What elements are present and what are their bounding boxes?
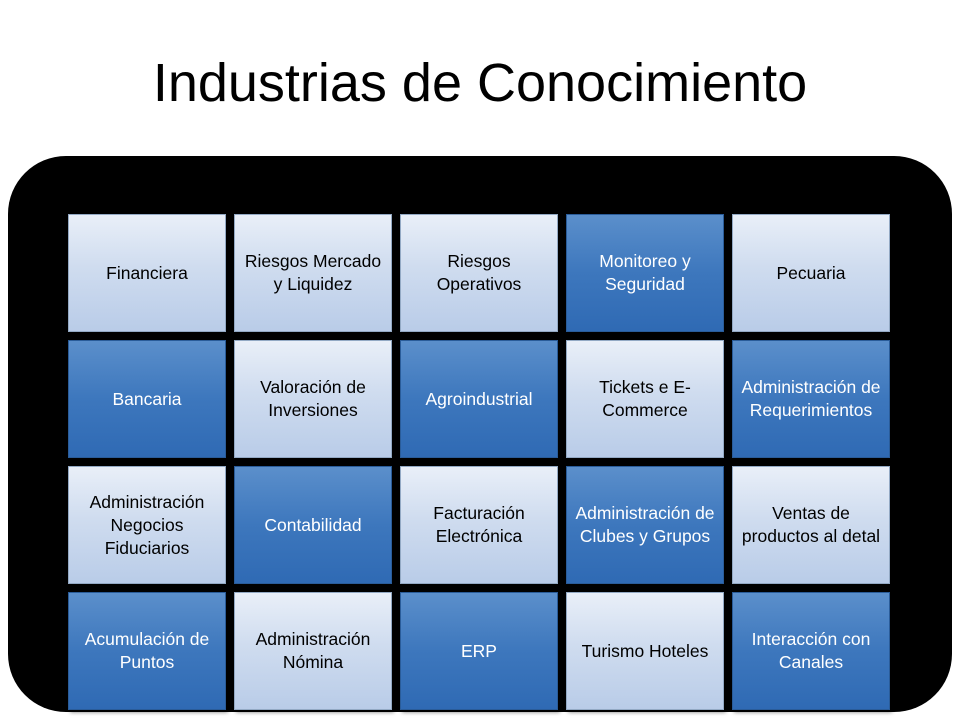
industry-cell[interactable]: Tickets e E-Commerce (566, 340, 724, 458)
industry-cell-label: Administración Negocios Fiduciarios (75, 491, 219, 560)
industry-cell[interactable]: Facturación Electrónica (400, 466, 558, 584)
industry-cell-label: ERP (407, 640, 551, 663)
industry-cell[interactable]: Riesgos Operativos (400, 214, 558, 332)
industry-cell[interactable]: Agroindustrial (400, 340, 558, 458)
industry-cell[interactable]: Acumulación de Puntos (68, 592, 226, 710)
industry-cell[interactable]: Bancaria (68, 340, 226, 458)
industry-cell-label: Valoración de Inversiones (241, 376, 385, 422)
industry-cell-label: Tickets e E-Commerce (573, 376, 717, 422)
industry-cell-label: Turismo Hoteles (573, 640, 717, 663)
industry-cell[interactable]: Administración Negocios Fiduciarios (68, 466, 226, 584)
industry-cell[interactable]: Turismo Hoteles (566, 592, 724, 710)
slide: Industrias de Conocimiento FinancieraRie… (0, 0, 960, 720)
industry-cell[interactable]: Interacción con Canales (732, 592, 890, 710)
industry-cell[interactable]: Ventas de productos al detal (732, 466, 890, 584)
industry-cell-label: Riesgos Mercado y Liquidez (241, 250, 385, 296)
industry-cell-label: Contabilidad (241, 514, 385, 537)
page-title: Industrias de Conocimiento (0, 52, 960, 114)
diagram-board: FinancieraRiesgos Mercado y LiquidezRies… (8, 156, 952, 712)
industry-cell[interactable]: Administración de Clubes y Grupos (566, 466, 724, 584)
industry-cell[interactable]: Administración Nómina (234, 592, 392, 710)
industry-cell[interactable]: Contabilidad (234, 466, 392, 584)
industry-cell-label: Administración de Requerimientos (739, 376, 883, 422)
industry-cell-label: Bancaria (75, 388, 219, 411)
industry-cell-label: Agroindustrial (407, 388, 551, 411)
industry-cell[interactable]: ERP (400, 592, 558, 710)
industry-grid: FinancieraRiesgos Mercado y LiquidezRies… (68, 214, 892, 710)
industry-cell-label: Riesgos Operativos (407, 250, 551, 296)
industry-cell[interactable]: Pecuaria (732, 214, 890, 332)
industry-cell-label: Facturación Electrónica (407, 502, 551, 548)
industry-cell-label: Monitoreo y Seguridad (573, 250, 717, 296)
industry-cell-label: Acumulación de Puntos (75, 628, 219, 674)
industry-cell[interactable]: Financiera (68, 214, 226, 332)
industry-cell[interactable]: Administración de Requerimientos (732, 340, 890, 458)
industry-cell-label: Pecuaria (739, 262, 883, 285)
industry-cell-label: Administración Nómina (241, 628, 385, 674)
industry-cell[interactable]: Valoración de Inversiones (234, 340, 392, 458)
industry-cell-label: Ventas de productos al detal (739, 502, 883, 548)
industry-cell[interactable]: Monitoreo y Seguridad (566, 214, 724, 332)
industry-cell-label: Administración de Clubes y Grupos (573, 502, 717, 548)
industry-cell-label: Interacción con Canales (739, 628, 883, 674)
industry-cell[interactable]: Riesgos Mercado y Liquidez (234, 214, 392, 332)
industry-cell-label: Financiera (75, 262, 219, 285)
